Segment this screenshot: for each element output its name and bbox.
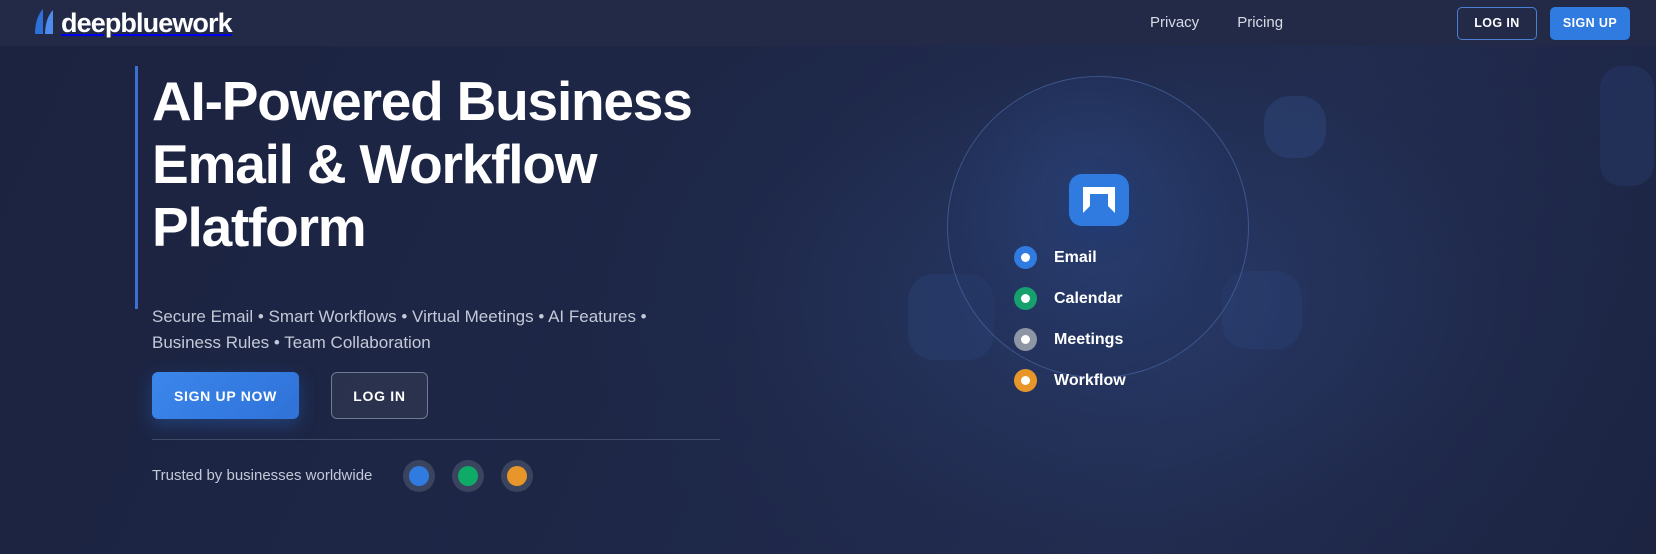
- hero-login-button[interactable]: LOG IN: [331, 372, 428, 419]
- trusted-dot-green-fill: [458, 466, 478, 486]
- feature-label-meetings: Meetings: [1054, 328, 1123, 351]
- hero-cta-row: SIGN UP NOW LOG IN: [152, 372, 428, 419]
- nav-link-privacy[interactable]: Privacy: [1150, 0, 1199, 46]
- feature-item-meetings[interactable]: Meetings: [1014, 328, 1126, 351]
- calendar-dot-icon: [1014, 287, 1037, 310]
- trusted-dot-blue-fill: [409, 466, 429, 486]
- feature-label-calendar: Calendar: [1054, 287, 1122, 310]
- trusted-dot-orange-fill: [507, 466, 527, 486]
- trusted-by-label: Trusted by businesses worldwide: [152, 456, 372, 496]
- signup-now-button[interactable]: SIGN UP NOW: [152, 372, 299, 419]
- decorative-square-1: [1264, 96, 1326, 158]
- feature-label-email: Email: [1054, 246, 1097, 269]
- email-dot-icon: [1014, 246, 1037, 269]
- nav-actions: LOG IN SIGN UP: [1457, 0, 1630, 46]
- hero-subtitle: Secure Email • Smart Workflows • Virtual…: [152, 304, 672, 356]
- trusted-by-row: Trusted by businesses worldwide: [152, 456, 533, 496]
- trusted-dot-green: [452, 460, 484, 492]
- meetings-dot-icon: [1014, 328, 1037, 351]
- trusted-by-dots: [403, 460, 533, 492]
- hero-section: AI-Powered Business Email & Workflow Pla…: [0, 46, 1656, 554]
- top-navigation-bar: deepbluework Privacy Pricing LOG IN SIGN…: [0, 0, 1656, 46]
- mail-envelope-icon: [1069, 174, 1129, 226]
- headline-accent-bar: [135, 66, 138, 309]
- sail-logo-icon: [32, 8, 58, 38]
- brand-name: deepbluework: [61, 8, 232, 38]
- landing-page: deepbluework Privacy Pricing LOG IN SIGN…: [0, 0, 1656, 554]
- feature-label-workflow: Workflow: [1054, 369, 1126, 392]
- nav-signup-button[interactable]: SIGN UP: [1550, 7, 1630, 40]
- feature-list: Email Calendar Meetings Workflow: [1014, 246, 1126, 392]
- brand-logo-link[interactable]: deepbluework: [32, 3, 232, 43]
- trusted-dot-blue: [403, 460, 435, 492]
- hero-divider: [152, 439, 720, 440]
- page-title: AI-Powered Business Email & Workflow Pla…: [152, 70, 772, 259]
- trusted-dot-orange: [501, 460, 533, 492]
- nav-links: Privacy Pricing: [1150, 0, 1283, 46]
- decorative-square-4: [1600, 66, 1654, 186]
- feature-item-workflow[interactable]: Workflow: [1014, 369, 1126, 392]
- workflow-dot-icon: [1014, 369, 1037, 392]
- nav-login-button[interactable]: LOG IN: [1457, 7, 1537, 40]
- nav-link-pricing[interactable]: Pricing: [1237, 0, 1283, 46]
- feature-item-calendar[interactable]: Calendar: [1014, 287, 1126, 310]
- feature-item-email[interactable]: Email: [1014, 246, 1126, 269]
